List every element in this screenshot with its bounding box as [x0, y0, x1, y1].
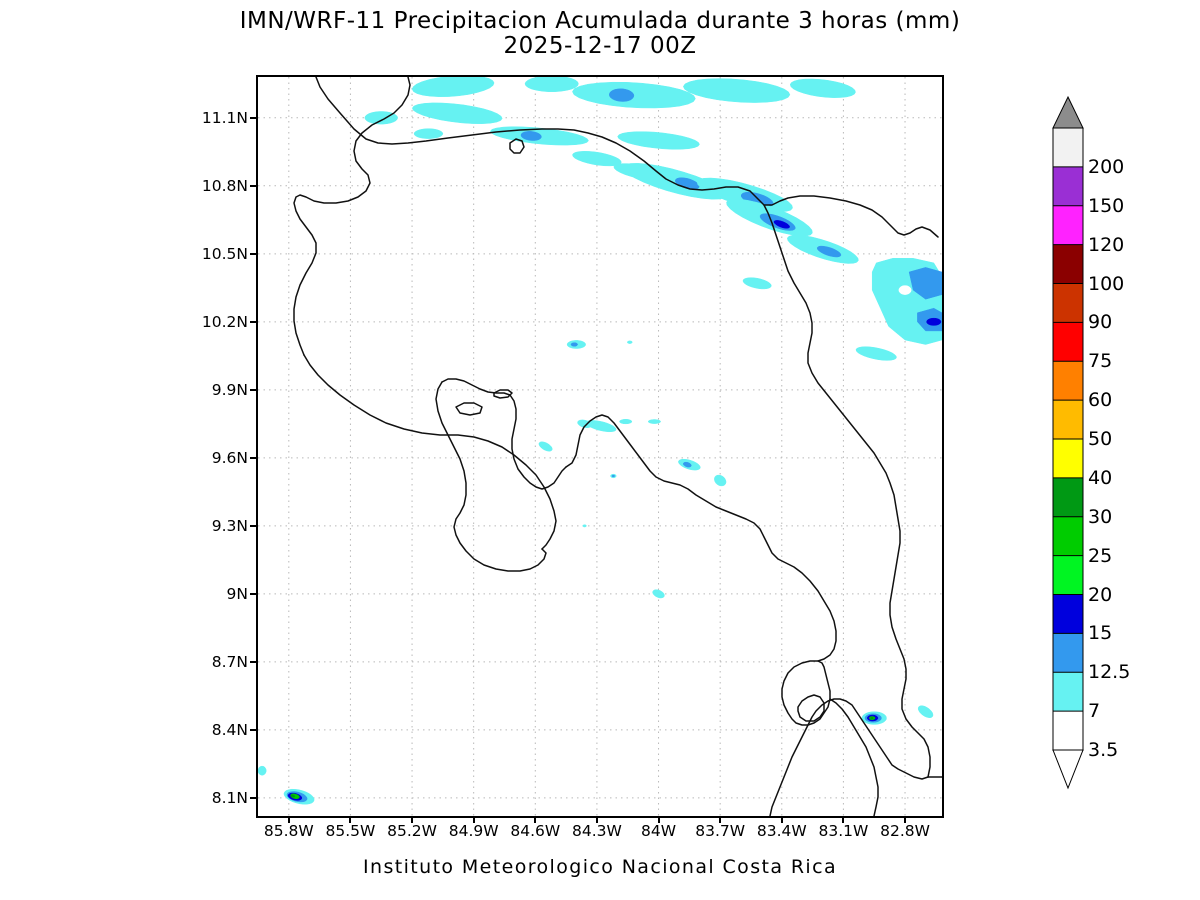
x-axis-tick-85.5W: 85.5W [326, 822, 376, 840]
footer-credit: Instituto Meteorologico Nacional Costa R… [0, 856, 1200, 878]
colorbar-tick-100: 100 [1088, 273, 1124, 295]
colorbar-band[interactable] [1053, 167, 1083, 206]
y-axis-tick-8.1N: 8.1N [212, 789, 248, 807]
x-axis-tick-84.9W: 84.9W [449, 822, 499, 840]
y-axis-tick-9.3N: 9.3N [212, 517, 248, 535]
y-axis-tick-mark [250, 253, 257, 255]
x-axis-tick-labels: 85.8W85.5W85.2W84.9W84.6W84.3W84W83.7W83… [256, 822, 944, 848]
coast-nicaragua-pacific [294, 77, 410, 355]
y-axis-tick-mark [250, 593, 257, 595]
colorbar-band[interactable] [1053, 633, 1083, 672]
colorbar-band[interactable] [1053, 284, 1083, 323]
colorbar-arrow-top [1053, 97, 1083, 128]
coast-nicoya-peninsula-west [436, 382, 546, 571]
colorbar-tick-7: 7 [1088, 700, 1100, 722]
colorbar-band[interactable] [1053, 711, 1083, 750]
coast-caribbean [764, 205, 930, 777]
colorbar-tick-25: 25 [1088, 545, 1112, 567]
colorbar-tick-90: 90 [1088, 311, 1112, 333]
y-axis-tick-mark [250, 185, 257, 187]
y-axis-tick-11.1N: 11.1N [202, 109, 248, 127]
colorbar-swatches [1048, 88, 1092, 818]
y-axis-tick-mark [250, 117, 257, 119]
weather-map-page: IMN/WRF-11 Precipitacion Acumulada duran… [0, 0, 1200, 900]
colorbar-band[interactable] [1053, 322, 1083, 361]
colorbar-tick-150: 150 [1088, 195, 1124, 217]
x-axis-tick-85.2W: 85.2W [387, 822, 437, 840]
colorbar-band[interactable] [1053, 478, 1083, 517]
colorbar-band[interactable] [1053, 672, 1083, 711]
colorbar-band[interactable] [1053, 245, 1083, 284]
colorbar-tick-50: 50 [1088, 428, 1112, 450]
x-axis-tick-mark [534, 816, 536, 823]
colorbar-tick-40: 40 [1088, 467, 1112, 489]
x-axis-tick-83.7W: 83.7W [695, 822, 745, 840]
coast-pacific-south [830, 699, 878, 816]
coast-guanacaste [304, 355, 556, 549]
x-axis-tick-84.3W: 84.3W [572, 822, 622, 840]
x-axis-tick-83.4W: 83.4W [757, 822, 807, 840]
colorbar-band[interactable] [1053, 361, 1083, 400]
colorbar-band[interactable] [1053, 206, 1083, 245]
x-axis-tick-84W: 84W [641, 822, 676, 840]
y-axis-tick-8.7N: 8.7N [212, 653, 248, 671]
y-axis-tick-mark [250, 525, 257, 527]
y-axis-tick-10.2N: 10.2N [202, 313, 248, 331]
chart-title-line-2: 2025-12-17 00Z [0, 33, 1200, 59]
colorbar-tick-15: 15 [1088, 622, 1112, 644]
y-axis-tick-10.8N: 10.8N [202, 177, 248, 195]
y-axis-tick-mark [250, 661, 257, 663]
border-nicaragua-north [316, 77, 938, 237]
colorbar-tick-3.5: 3.5 [1088, 739, 1118, 761]
colorbar-band[interactable] [1053, 439, 1083, 478]
colorbar-band[interactable] [1053, 595, 1083, 634]
colorbar-tick-30: 30 [1088, 506, 1112, 528]
coast-nicoya-gulf-inner [442, 379, 566, 489]
x-axis-tick-83.1W: 83.1W [818, 822, 868, 840]
colorbar-tick-200: 200 [1088, 156, 1124, 178]
x-axis-tick-84.6W: 84.6W [510, 822, 560, 840]
x-axis-tick-mark [473, 816, 475, 823]
coastline-and-borders [258, 77, 942, 816]
x-axis-tick-mark [658, 816, 660, 823]
x-axis-tick-mark [719, 816, 721, 823]
colorbar-band[interactable] [1053, 400, 1083, 439]
colorbar-legend[interactable]: 20015012010090756050403025201512.573.5 [1048, 88, 1198, 818]
colorbar-tick-75: 75 [1088, 350, 1112, 372]
y-axis-tick-9.9N: 9.9N [212, 381, 248, 399]
colorbar-band[interactable] [1053, 556, 1083, 595]
colorbar-band[interactable] [1053, 517, 1083, 556]
y-axis-tick-mark [250, 321, 257, 323]
chart-title-line-1: IMN/WRF-11 Precipitacion Acumulada duran… [0, 8, 1200, 34]
y-axis-tick-mark [250, 457, 257, 459]
y-axis-tick-9N: 9N [227, 585, 248, 603]
coast-pacific-central [566, 415, 836, 661]
colorbar-tick-12.5: 12.5 [1088, 661, 1130, 683]
x-axis-tick-mark [349, 816, 351, 823]
colorbar-band[interactable] [1053, 128, 1083, 167]
colorbar-tick-20: 20 [1088, 584, 1112, 606]
x-axis-tick-mark [904, 816, 906, 823]
x-axis-tick-mark [411, 816, 413, 823]
y-axis-tick-mark [250, 797, 257, 799]
chart-title-block: IMN/WRF-11 Precipitacion Acumulada duran… [0, 8, 1200, 59]
colorbar-tick-120: 120 [1088, 234, 1124, 256]
map-plot-area[interactable] [256, 75, 944, 818]
y-axis-tick-8.4N: 8.4N [212, 721, 248, 739]
x-axis-tick-mark [288, 816, 290, 823]
golfo-dulce [798, 695, 824, 721]
y-axis-tick-labels: 11.1N10.8N10.5N10.2N9.9N9.6N9.3N9N8.7N8.… [190, 75, 248, 818]
island-gulf-nicoya [456, 403, 482, 415]
y-axis-tick-10.5N: 10.5N [202, 245, 248, 263]
x-axis-tick-mark [596, 816, 598, 823]
colorbar-arrow-bottom [1053, 750, 1083, 788]
x-axis-tick-82.8W: 82.8W [880, 822, 930, 840]
x-axis-tick-85.8W: 85.8W [264, 822, 314, 840]
y-axis-tick-9.6N: 9.6N [212, 449, 248, 467]
y-axis-tick-mark [250, 729, 257, 731]
x-axis-tick-mark [842, 816, 844, 823]
y-axis-tick-mark [250, 389, 257, 391]
lake-nicaragua [510, 139, 524, 153]
x-axis-tick-mark [781, 816, 783, 823]
colorbar-tick-60: 60 [1088, 389, 1112, 411]
peninsula-osa [782, 661, 830, 725]
